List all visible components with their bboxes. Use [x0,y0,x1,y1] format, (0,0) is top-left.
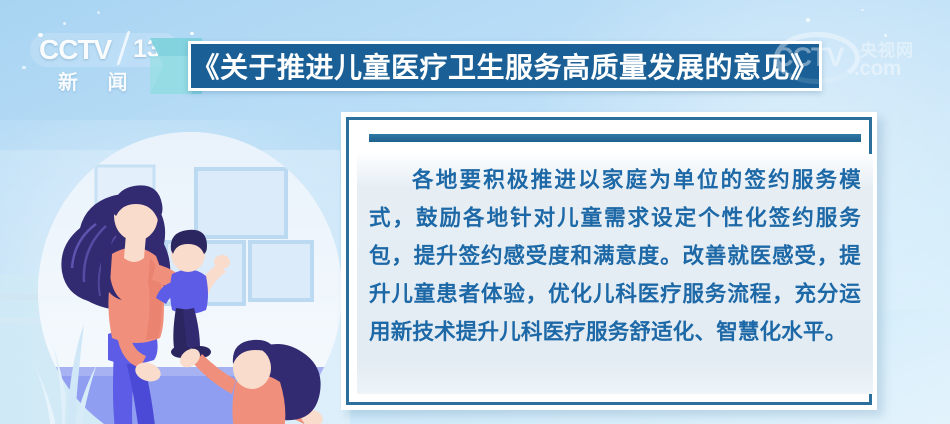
banner-chevron-accent-secondary [150,56,192,94]
sparkle-dot [97,11,100,14]
broadcast-screen: CCTV 13 新 闻 《关于推进儿童医疗卫生服务高质量发展的意见》 CCTV … [0,0,950,424]
policy-body-text: 各地要积极推进以家庭为单位的签约服务模式，鼓励各地针对儿童需求设定个性化签约服务… [369,162,861,352]
sparkle-dot [806,18,810,22]
headline-banner: 《关于推进儿童医疗卫生服务高质量发展的意见》 [188,41,822,91]
sparkle-dot [884,34,887,37]
watermark-chinese: 央视网 [860,36,914,61]
content-card: 各地要积极推进以家庭为单位的签约服务模式，鼓励各地针对儿童需求设定个性化签约服务… [341,112,877,410]
sparkle-dot [63,22,66,25]
channel-name-label: 新 闻 [58,66,140,95]
card-body-panel: 各地要积极推进以家庭为单位的签约服务模式，鼓励各地针对儿童需求设定个性化签约服务… [357,154,873,394]
watermark-domain: .com [854,57,901,81]
headline-title: 《关于推进儿童医疗卫生服务高质量发展的意见》 [191,46,818,86]
family-illustration [0,96,350,424]
sparkle-dot [861,9,864,11]
sparkle-dot [22,66,26,69]
card-accent-bar [369,134,861,142]
sparkle-dot [190,32,194,35]
card-inner-frame: 各地要积极推进以家庭为单位的签约服务模式，鼓励各地针对儿童需求设定个性化签约服务… [346,117,872,405]
cctv-wordmark: CCTV [39,34,111,66]
